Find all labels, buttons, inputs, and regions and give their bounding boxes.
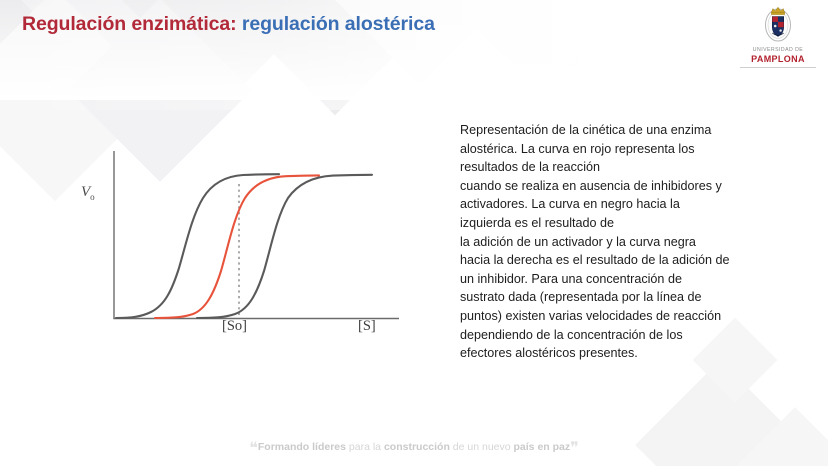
- chart-y-axis-label: Vo: [81, 184, 95, 202]
- chart-y-axis-label-subscript: o: [90, 192, 95, 202]
- quote-close-icon: ❞: [570, 440, 579, 457]
- slide-footer-slogan: ❝Formando líderes para la construcción d…: [0, 438, 828, 458]
- description-line: efectores alostéricos presentes.: [460, 344, 780, 363]
- description-line: dependiendo de la concentración de los: [460, 326, 780, 345]
- description-line: cuando se realiza en ausencia de inhibid…: [460, 177, 780, 196]
- description-line: un inhibidor. Para una concentración de: [460, 270, 780, 289]
- page-title: Regulación enzimática: regulación alosté…: [22, 13, 435, 36]
- university-logo: UNIVERSIDAD DE PAMPLONA: [740, 3, 816, 68]
- logo-line-universidad: UNIVERSIDAD DE: [740, 47, 816, 54]
- allosteric-kinetics-chart: Vo [So] [S]: [75, 140, 415, 350]
- footer-segment-bold-1: Formando líderes: [258, 441, 346, 453]
- footer-segment-4: de un nuevo: [450, 441, 514, 453]
- title-primary-text: Regulación enzimática:: [22, 13, 237, 35]
- logo-underline: [740, 67, 816, 68]
- curve-no-effectors: [155, 175, 319, 318]
- description-line: alostérica. La curva en rojo representa …: [460, 140, 780, 159]
- description-line: activadores. La curva en negro hacia la: [460, 195, 780, 214]
- bg-diamond: [439, 0, 651, 96]
- footer-segment-bold-5: país en paz: [514, 441, 571, 453]
- university-crest-icon: [761, 3, 795, 45]
- chart-x-axis-label: [S]: [358, 318, 376, 335]
- description-line: Representación de la cinética de una enz…: [460, 121, 780, 140]
- description-line: la adición de un activador y la curva ne…: [460, 233, 780, 252]
- logo-line-pamplona: PAMPLONA: [740, 54, 816, 65]
- description-line: resultados de la reacción: [460, 158, 780, 177]
- title-secondary-text: regulación alostérica: [242, 13, 435, 35]
- curve-inhibitor: [197, 175, 372, 318]
- footer-segment-2: para la: [346, 441, 384, 453]
- slide-canvas: Regulación enzimática: regulación alosté…: [0, 0, 828, 466]
- chart-substrate-point-label: [So]: [222, 318, 247, 335]
- quote-open-icon: ❝: [249, 440, 258, 457]
- description-line: puntos) existen varias velocidades de re…: [460, 307, 780, 326]
- footer-segment-bold-3: construcción: [384, 441, 450, 453]
- description-line: sustrato dada (representada por la línea…: [460, 288, 780, 307]
- description-line: hacia la derecha es el resultado de la a…: [460, 251, 780, 270]
- description-line: izquierda es el resultado de: [460, 214, 780, 233]
- description-paragraph: Representación de la cinética de una enz…: [460, 121, 780, 363]
